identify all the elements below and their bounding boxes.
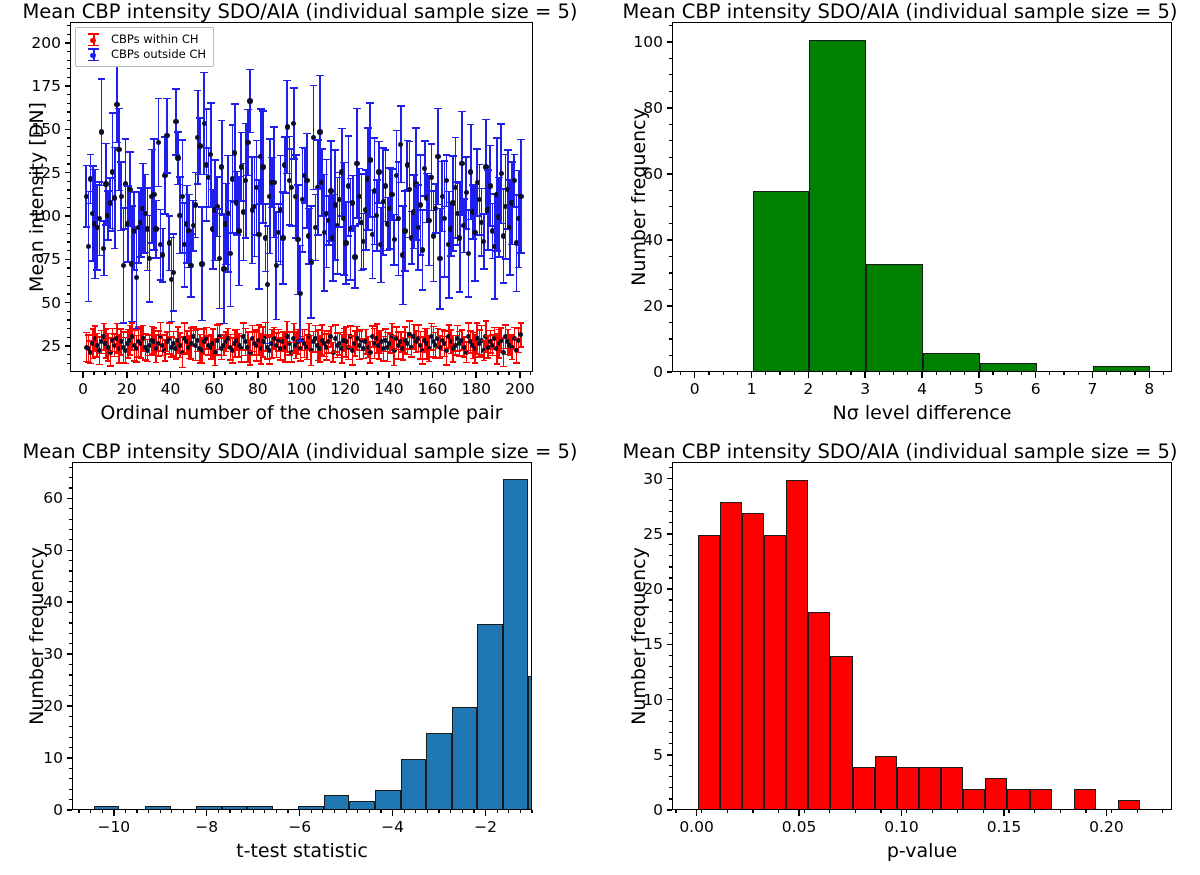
error-cap-bottom <box>480 268 488 270</box>
x-minor-tick <box>183 810 184 813</box>
x-minor-tick <box>125 810 126 813</box>
error-cap-top <box>115 108 123 110</box>
y-minor-tick <box>67 328 70 329</box>
error-cap-top <box>89 165 97 167</box>
error-cap-bottom <box>258 363 265 365</box>
error-cap-bottom <box>266 253 274 255</box>
legend-marker-icon <box>81 32 107 47</box>
y-minor-tick <box>67 363 70 364</box>
error-cap-top <box>157 322 164 324</box>
error-cap-top <box>101 323 108 325</box>
error-cap-bottom <box>472 362 479 364</box>
y-minor-tick <box>67 311 70 312</box>
error-cap-top <box>301 329 308 331</box>
data-point <box>518 194 523 199</box>
x-minor-tick <box>1134 372 1135 375</box>
histogram-bar <box>808 612 830 809</box>
y-minor-tick <box>669 611 672 612</box>
histogram-bar <box>196 806 222 809</box>
histogram-bar <box>809 40 866 372</box>
error-cap-bottom <box>471 280 479 282</box>
y-tick-label: 25 <box>610 525 663 543</box>
error-cap-top <box>345 135 353 137</box>
y-minor-tick <box>669 655 672 656</box>
data-point <box>256 232 261 237</box>
x-tick <box>694 372 696 378</box>
error-cap-top <box>351 225 359 227</box>
y-minor-tick <box>69 789 72 790</box>
error-cap-bottom <box>436 308 444 310</box>
x-minor-tick <box>855 810 856 813</box>
error-cap-top <box>181 322 188 324</box>
x-minor-tick <box>404 810 405 813</box>
error-cap-bottom <box>187 296 195 298</box>
error-cap-top <box>98 78 106 80</box>
ttest-histogram-axes <box>72 462 532 810</box>
error-cap-bottom <box>299 251 307 253</box>
y-minor-tick <box>69 477 72 478</box>
x-minor-tick <box>323 372 324 375</box>
histogram-bar <box>1093 366 1150 371</box>
error-cap-bottom <box>345 359 352 361</box>
error-cap-bottom <box>297 340 305 342</box>
error-cap-top <box>424 328 431 330</box>
error-cap-bottom <box>155 186 163 188</box>
x-tick-label: 0 <box>690 380 700 398</box>
ttest-histogram-xlabel: t-test statistic <box>72 840 532 862</box>
y-minor-tick <box>67 285 70 286</box>
x-minor-tick <box>1106 372 1107 375</box>
x-minor-tick <box>822 372 823 375</box>
x-minor-tick <box>377 372 378 375</box>
x-tick-label: −6 <box>288 818 311 836</box>
y-tick-label: 0 <box>10 801 63 819</box>
data-point <box>219 164 224 169</box>
x-minor-tick <box>355 372 356 375</box>
y-tick <box>667 588 673 590</box>
error-cap-top <box>103 328 110 330</box>
y-minor-tick <box>669 338 672 339</box>
x-tick <box>206 810 208 816</box>
data-point <box>265 282 270 287</box>
error-cap-bottom <box>445 297 453 299</box>
nsigma-histogram-ylabel: Number frequency <box>628 108 650 286</box>
x-minor-tick <box>137 372 138 375</box>
y-minor-tick <box>669 190 672 191</box>
histogram-bar <box>1118 800 1140 809</box>
x-tick-label: 80 <box>248 380 268 398</box>
y-tick-label: 40 <box>610 231 663 249</box>
error-cap-top <box>428 143 436 145</box>
x-tick <box>257 372 259 378</box>
x-minor-tick <box>369 810 370 813</box>
x-minor-tick <box>778 810 779 813</box>
error-cap-bottom <box>135 262 143 264</box>
error-cap-bottom <box>100 275 108 277</box>
error-cap-bottom <box>247 364 254 366</box>
error-cap-bottom <box>127 354 134 356</box>
x-minor-tick <box>136 810 137 813</box>
error-cap-bottom <box>98 353 105 355</box>
pvalue-histogram: Mean CBP intensity SDO/AIA (individual s… <box>600 440 1200 875</box>
error-cap-top <box>312 325 319 327</box>
error-cap-top <box>174 131 182 133</box>
x-minor-tick <box>1049 372 1050 375</box>
x-tick-label: 2 <box>803 380 813 398</box>
data-point <box>245 140 250 145</box>
error-cap-top <box>218 120 226 122</box>
y-tick <box>667 644 673 646</box>
x-tick-label: 8 <box>1144 380 1154 398</box>
error-cap-top <box>487 145 495 147</box>
y-tick-label: 80 <box>610 99 663 117</box>
x-tick <box>798 810 800 816</box>
error-cap-bottom <box>465 296 473 298</box>
y-minor-tick <box>669 555 672 556</box>
x-tick <box>388 372 390 378</box>
error-cap-top <box>92 325 99 327</box>
data-point <box>291 121 296 126</box>
y-minor-tick <box>69 726 72 727</box>
error-cap-top <box>105 333 112 335</box>
error-cap-top <box>207 102 215 104</box>
scatter-errorbar-plot-area <box>71 23 532 371</box>
error-cap-bottom <box>397 182 405 184</box>
x-minor-tick <box>438 810 439 813</box>
error-cap-top <box>363 329 370 331</box>
x-minor-tick <box>675 810 676 813</box>
error-cap-top <box>458 111 466 113</box>
error-cap-bottom <box>447 255 455 257</box>
data-point <box>457 235 462 240</box>
error-cap-bottom <box>485 357 492 359</box>
histogram-bar <box>742 513 764 809</box>
histogram-bar <box>426 733 452 809</box>
y-minor-tick <box>69 560 72 561</box>
error-cap-top <box>417 331 424 333</box>
x-minor-tick <box>1085 810 1086 813</box>
y-minor-tick <box>669 721 672 722</box>
x-tick-label: 0.05 <box>782 818 817 836</box>
x-minor-tick <box>462 810 463 813</box>
y-minor-tick <box>69 612 72 613</box>
data-point <box>101 246 106 251</box>
error-cap-top <box>487 330 494 332</box>
error-cap-top <box>194 90 202 92</box>
error-cap-top <box>465 322 472 324</box>
y-minor-tick <box>669 58 672 59</box>
y-tick-label: 10 <box>10 749 63 767</box>
x-minor-tick <box>508 372 509 375</box>
error-cap-top <box>459 329 466 331</box>
data-point <box>295 237 300 242</box>
histogram-bar <box>1007 789 1029 809</box>
x-minor-tick <box>850 372 851 375</box>
x-tick <box>170 372 172 378</box>
error-cap-bottom <box>253 360 260 362</box>
y-minor-tick <box>67 163 70 164</box>
error-cap-top <box>155 98 163 100</box>
x-minor-tick <box>334 810 335 813</box>
error-cap-bottom <box>380 254 388 256</box>
y-tick <box>65 42 71 44</box>
data-point <box>86 244 91 249</box>
x-tick <box>696 810 698 816</box>
y-tick <box>667 809 673 811</box>
y-tick-label: 15 <box>610 635 663 653</box>
legend: CBPs within CHCBPs outside CH <box>75 27 214 67</box>
error-cap-bottom <box>426 361 433 363</box>
error-cap-bottom <box>404 354 411 356</box>
data-point <box>280 235 285 240</box>
scatter-errorbar-axes <box>70 22 533 372</box>
error-cap-top <box>210 328 217 330</box>
histogram-bar <box>764 535 786 809</box>
error-cap-bottom <box>162 360 169 362</box>
x-minor-tick <box>737 372 738 375</box>
y-tick-label: 125 <box>8 164 61 182</box>
error-cap-bottom <box>437 357 444 359</box>
x-minor-tick <box>1162 810 1163 813</box>
data-point <box>236 228 241 233</box>
x-tick <box>901 810 903 816</box>
y-minor-tick <box>669 677 672 678</box>
error-cap-bottom <box>203 220 211 222</box>
error-cap-bottom <box>240 260 248 262</box>
y-minor-tick <box>669 322 672 323</box>
data-point <box>398 142 403 147</box>
error-cap-top <box>354 326 361 328</box>
error-cap-top <box>194 328 201 330</box>
x-tick <box>1149 372 1151 378</box>
x-minor-tick <box>115 372 116 375</box>
y-tick-label: 20 <box>10 697 63 715</box>
x-minor-tick <box>279 372 280 375</box>
legend-label: CBPs outside CH <box>111 47 206 62</box>
error-cap-bottom <box>329 280 337 282</box>
error-cap-top <box>505 329 512 331</box>
error-cap-top <box>85 334 92 336</box>
x-minor-tick <box>421 372 422 375</box>
x-tick-label: 160 <box>418 380 448 398</box>
x-tick-label: 180 <box>461 380 491 398</box>
x-minor-tick <box>287 810 288 813</box>
x-minor-tick <box>415 810 416 813</box>
error-cap-bottom <box>125 357 132 359</box>
data-point <box>260 164 265 169</box>
error-cap-top <box>473 148 481 150</box>
data-point <box>518 332 523 337</box>
y-minor-tick <box>669 355 672 356</box>
histogram-bar <box>222 806 248 809</box>
x-tick-label: −10 <box>97 818 130 836</box>
y-minor-tick <box>669 666 672 667</box>
error-cap-top <box>412 127 420 129</box>
x-tick <box>299 810 301 816</box>
y-minor-tick <box>67 137 70 138</box>
y-minor-tick <box>67 146 70 147</box>
x-tick <box>1092 372 1094 378</box>
x-minor-tick <box>497 372 498 375</box>
x-tick <box>82 372 84 378</box>
nsigma-histogram: Mean CBP intensity SDO/AIA (individual s… <box>600 0 1200 440</box>
data-point <box>119 194 124 199</box>
y-tick <box>67 498 73 500</box>
x-minor-tick <box>311 810 312 813</box>
error-cap-bottom <box>450 361 457 363</box>
error-cap-bottom <box>221 355 228 357</box>
y-tick-label: 30 <box>10 645 63 663</box>
error-cap-bottom <box>500 282 508 284</box>
y-minor-tick <box>67 293 70 294</box>
x-tick <box>1035 372 1037 378</box>
error-cap-bottom <box>500 366 507 368</box>
error-cap-bottom <box>481 360 488 362</box>
y-tick <box>667 478 673 480</box>
y-minor-tick <box>69 664 72 665</box>
x-minor-tick <box>530 372 531 375</box>
x-minor-tick <box>1078 372 1079 375</box>
y-tick-label: 30 <box>610 470 663 488</box>
y-minor-tick <box>669 256 672 257</box>
x-minor-tick <box>322 810 323 813</box>
error-cap-bottom <box>249 263 257 265</box>
histogram-bar <box>941 767 963 809</box>
x-minor-tick <box>983 810 984 813</box>
y-minor-tick <box>69 519 72 520</box>
x-tick-label: −4 <box>381 818 404 836</box>
error-cap-bottom <box>509 359 516 361</box>
y-tick <box>67 653 73 655</box>
error-cap-bottom <box>111 248 119 250</box>
error-cap-bottom <box>384 250 392 252</box>
error-cap-top <box>454 325 461 327</box>
data-point <box>156 140 161 145</box>
error-cap-bottom <box>246 132 254 134</box>
error-cap-bottom <box>515 267 523 269</box>
x-minor-tick <box>1120 372 1121 375</box>
x-tick-label: 120 <box>330 380 360 398</box>
y-tick-label: 75 <box>8 250 61 268</box>
error-cap-top <box>94 333 101 335</box>
error-cap-bottom <box>360 268 368 270</box>
error-cap-bottom <box>192 360 199 362</box>
error-cap-bottom <box>339 362 346 364</box>
error-cap-top <box>197 334 204 336</box>
error-cap-bottom <box>91 278 99 280</box>
error-cap-top <box>290 87 298 89</box>
data-point <box>304 178 309 183</box>
legend-entry: CBPs outside CH <box>81 47 206 62</box>
y-minor-tick <box>67 25 70 26</box>
error-cap-top <box>378 330 385 332</box>
x-minor-tick <box>410 372 411 375</box>
error-cap-bottom <box>456 291 464 293</box>
data-point <box>350 200 355 205</box>
x-minor-tick <box>879 372 880 375</box>
x-minor-tick <box>218 810 219 813</box>
data-point <box>103 181 108 186</box>
x-minor-tick <box>290 372 291 375</box>
x-tick-label: 0.00 <box>679 818 714 836</box>
y-minor-tick <box>669 765 672 766</box>
x-tick <box>921 372 923 378</box>
error-cap-bottom <box>194 183 202 185</box>
x-minor-tick <box>804 810 805 813</box>
pvalue-histogram-plot-area <box>673 463 1171 809</box>
x-tick-label: 0 <box>78 380 88 398</box>
legend-label: CBPs within CH <box>111 32 199 47</box>
y-minor-tick <box>69 747 72 748</box>
histogram-bar <box>349 801 375 809</box>
error-cap-bottom <box>408 263 416 265</box>
error-cap-top <box>452 137 460 139</box>
data-point <box>383 183 388 188</box>
data-point <box>396 216 401 221</box>
y-minor-tick <box>67 189 70 190</box>
y-minor-tick <box>69 643 72 644</box>
error-cap-top <box>159 228 167 230</box>
nsigma-histogram-plot-area <box>673 23 1171 371</box>
y-minor-tick <box>669 732 672 733</box>
error-cap-bottom <box>408 356 415 358</box>
data-point <box>114 102 119 107</box>
data-point <box>464 190 469 195</box>
error-cap-top <box>421 140 429 142</box>
error-cap-bottom <box>227 306 235 308</box>
x-minor-tick <box>723 372 724 375</box>
error-cap-bottom <box>198 320 206 322</box>
error-cap-bottom <box>168 321 176 323</box>
error-cap-top <box>406 141 414 143</box>
error-cap-top <box>498 327 505 329</box>
histogram-bar <box>94 806 120 809</box>
error-cap-top <box>225 328 232 330</box>
pvalue-histogram-axes <box>672 462 1172 810</box>
y-minor-tick <box>69 768 72 769</box>
y-tick-label: 60 <box>10 489 63 507</box>
data-point <box>317 129 322 134</box>
pvalue-histogram-title: Mean CBP intensity SDO/AIA (individual s… <box>600 440 1200 463</box>
error-cap-bottom <box>323 359 330 361</box>
y-minor-tick <box>69 467 72 468</box>
y-tick-label: 20 <box>610 297 663 315</box>
data-point <box>368 157 373 162</box>
x-minor-tick <box>936 372 937 375</box>
x-minor-tick <box>508 810 509 813</box>
data-point <box>407 187 412 192</box>
y-tick-label: 100 <box>8 207 61 225</box>
y-minor-tick <box>67 103 70 104</box>
error-cap-bottom <box>419 363 426 365</box>
y-tick-label: 60 <box>610 165 663 183</box>
data-point <box>435 154 440 159</box>
x-tick-label: 60 <box>204 380 224 398</box>
x-minor-tick <box>708 372 709 375</box>
x-tick <box>751 372 753 378</box>
x-minor-tick <box>906 810 907 813</box>
error-cap-bottom <box>242 237 250 239</box>
error-cap-bottom <box>122 363 129 365</box>
x-minor-tick <box>932 810 933 813</box>
error-cap-bottom <box>255 288 263 290</box>
error-cap-top <box>126 151 134 153</box>
error-cap-bottom <box>146 301 154 303</box>
error-cap-top <box>428 323 435 325</box>
y-minor-tick <box>67 111 70 112</box>
ttest-histogram-title: Mean CBP intensity SDO/AIA (individual s… <box>0 440 600 463</box>
error-cap-top <box>328 326 335 328</box>
